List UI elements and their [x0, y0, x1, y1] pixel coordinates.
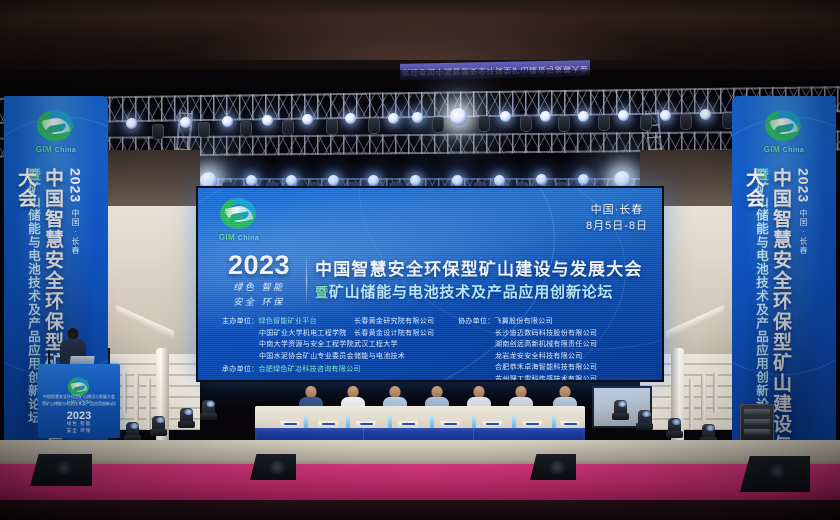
organizer-column-2: 长春黄金研究院有限公司 长春黄金设计院有限公司 武汉工程大学 储能与电池技术 [354, 316, 458, 382]
water-bottle [512, 415, 516, 428]
stage-lamp [540, 111, 551, 122]
logo-ring [37, 110, 73, 141]
banner-swoosh-arc [4, 96, 108, 397]
placard-stripe [444, 423, 457, 425]
co-text: 湖南创远高新机械有限责任公司 [495, 341, 597, 348]
host-col2-item: 储能与电池技术 [354, 351, 458, 363]
banner-sub-prefix: 暨 [754, 168, 768, 182]
mover-lens [672, 419, 681, 425]
logo-text-main: GIM [219, 233, 235, 242]
logo-wordmark: GIM China [27, 145, 85, 154]
co-first-row: 协办单位：飞翼股份有限公司 [458, 316, 652, 328]
balustrade-spindle [122, 372, 127, 414]
host-col1-item: 中国矿业大学机电工程学院 [222, 328, 354, 340]
co-item: 苏州理工雷科传感技术有限公司 [458, 374, 652, 382]
co-text: 龙岩龙安安全科技有限公司 [495, 353, 583, 360]
screen-location-block: 中国·长春 8月5日-8日 [586, 202, 648, 234]
speaker-cone [768, 464, 786, 478]
undertaker-row: 承办单位：合肥绿色矿冶科技咨询有限公司 [222, 364, 361, 374]
organizer-column-3: 协办单位：飞翼股份有限公司 长沙迪迈数码科技股份有限公司 湖南创远高新机械有限责… [458, 316, 652, 382]
mover-lens [706, 425, 715, 431]
host-first: 绿色智能矿业平台 [259, 318, 317, 325]
logo-wordmark: GIM China [210, 233, 268, 242]
podium-slogan-1: 绿色 智能 [38, 422, 120, 428]
water-bottle [304, 415, 308, 428]
banner-swoosh-arc [732, 96, 836, 397]
stage-monitor-speaker [250, 454, 296, 480]
stage-lamp [345, 113, 356, 124]
logo-ring [765, 110, 801, 141]
screen-year-block: 2023 绿色 智能 安全 环保 [216, 252, 302, 309]
podium-slogan-2: 安全 环保 [38, 429, 120, 435]
host-col2-item: 长春黄金研究院有限公司 [354, 316, 458, 328]
water-bottle [430, 415, 434, 428]
banner-year: 2023 [68, 168, 84, 203]
screen-slogan-2: 安全 环保 [216, 297, 302, 309]
floor-moving-head [200, 398, 217, 420]
stage-lamp [302, 114, 313, 125]
host-col1-item: 中国水泥协会矿山专业委员会 [222, 351, 354, 363]
stage-lamp [412, 112, 423, 123]
screen-slogan-1: 绿色 智能 [216, 282, 302, 294]
banner-year: 2023 [796, 168, 812, 203]
screen-title-block: 2023 绿色 智能 安全 环保 中国智慧安全环保型矿山建设与发展大会 暨矿山储… [216, 252, 648, 309]
host-label: 主办单位： [222, 318, 259, 325]
co-item: 长沙迪迈数码科技股份有限公司 [458, 328, 652, 340]
stage-lamp [368, 175, 379, 186]
moving-head-fixture [558, 116, 570, 132]
co-text: 苏州理工雷科传感技术有限公司 [495, 376, 597, 382]
moving-head-fixture [640, 115, 652, 131]
stage-wall-shadow-left [108, 150, 200, 210]
speaker-cone [268, 460, 286, 474]
ceiling-glow [180, 0, 660, 60]
podium-title-line-1: 中国智慧安全环保型矿山建设与发展大会 [42, 394, 116, 400]
stage-lamp [536, 174, 547, 185]
logo-swoop-dark [46, 123, 67, 133]
floor-moving-head [124, 420, 141, 442]
moving-head-fixture [432, 117, 444, 133]
stage-lamp [700, 109, 711, 120]
stage-lamp [578, 111, 589, 122]
logo-mark [763, 110, 805, 144]
moving-head-fixture [282, 120, 294, 136]
water-bottle [346, 415, 350, 428]
co-text: 长沙迪迈数码科技股份有限公司 [495, 330, 597, 337]
undertaker-label: 承办单位： [222, 366, 259, 373]
screen-titles: 中国智慧安全环保型矿山建设与发展大会 暨矿山储能与电池技术及产品应用创新论坛 [315, 259, 648, 302]
floor-moving-head [612, 398, 629, 420]
moving-head-fixture [520, 116, 532, 132]
conference-stage-photo: 欢迎参加中国智慧安全环保型矿山建设与发展大会 [0, 0, 840, 520]
moving-head-fixture [478, 116, 490, 132]
screen-city: 中国·长春 [586, 202, 648, 218]
logo-text-main: GIM [36, 145, 52, 154]
mover-base [666, 431, 683, 438]
stage-monitor-speaker [30, 454, 92, 486]
co-text: 合肥恭禾卓海智能科技有限公司 [495, 364, 597, 371]
screen-title-sub-prefix: 暨 [315, 285, 329, 300]
stage-lamp [578, 174, 589, 185]
speaker-cone [548, 460, 566, 474]
balustrade-spindle [701, 374, 706, 422]
logo-wordmark: GIM China [755, 145, 813, 154]
stage-lamp [494, 175, 505, 186]
host-col1-text: 中国水泥协会矿山专业委员会 [259, 353, 354, 360]
placard-stripe [564, 423, 577, 425]
mover-base [178, 421, 195, 428]
moving-head-fixture [326, 119, 338, 135]
rack-panel [744, 419, 770, 425]
host-col1-text: 中南大学资源与安全工程学院 [259, 341, 354, 348]
host-col1-item: 中南大学资源与安全工程学院 [222, 339, 354, 351]
stage-lamp-bright [450, 108, 467, 125]
logo-swoop-dark [774, 123, 795, 133]
host-first-row: 主办单位：绿色智能矿业平台 [222, 316, 354, 328]
stage-lamp [222, 116, 233, 127]
mover-lens [642, 411, 651, 417]
screen-title-main: 中国智慧安全环保型矿山建设与发展大会 [315, 259, 648, 280]
stage-lamp [126, 118, 137, 129]
floor-moving-head [666, 416, 683, 438]
mover-lens [130, 423, 139, 429]
mover-lens [156, 417, 165, 423]
moving-head-fixture [598, 115, 610, 131]
water-bottle [472, 415, 476, 428]
main-led-screen: GIM China 中国·长春 8月5日-8日 2023 绿色 智能 安全 环保… [196, 186, 664, 382]
moving-head-fixture [368, 118, 380, 134]
logo-swoop-light [42, 115, 71, 136]
stage-lamp [410, 175, 421, 186]
host-col2-text: 武汉工程大学 [354, 341, 398, 348]
placard-stripe [486, 423, 499, 425]
stage-lamp [660, 110, 671, 121]
placard-stripe [526, 423, 539, 425]
logo-text-main: GIM [764, 145, 780, 154]
balustrade-spindle [689, 378, 694, 430]
speaker-podium: GIM China 中国智慧安全环保型矿山建设与发展大会 暨矿山储能与电池技术及… [38, 364, 120, 438]
moving-head-fixture [680, 114, 692, 130]
mover-base [612, 413, 629, 420]
placard-stripe [284, 423, 297, 425]
stage-lamp [246, 175, 257, 186]
banner-sub-prefix: 暨 [26, 168, 40, 182]
water-bottle [388, 415, 392, 428]
host-col2-item: 武汉工程大学 [354, 339, 458, 351]
mover-lens [184, 409, 193, 415]
moving-head-fixture [152, 124, 164, 140]
banner-title-sub: 矿山储能与电池技术及产品应用创新论坛 [754, 182, 768, 425]
placard-stripe [322, 423, 335, 425]
stage-lamp [452, 175, 463, 186]
gim-china-logo-icon: GIM China [755, 110, 813, 162]
moving-head-fixture [240, 121, 252, 137]
screen-title-sub-row: 暨矿山储能与电池技术及产品应用创新论坛 [315, 283, 648, 302]
gim-china-logo-icon: GIM China [27, 110, 85, 162]
stage-lamp [500, 111, 511, 122]
logo-mark [218, 198, 260, 232]
stage-monitor-speaker [530, 454, 576, 480]
floor-moving-head [636, 408, 653, 430]
co-item: 龙岩龙安安全科技有限公司 [458, 351, 652, 363]
stage-lamp [388, 113, 399, 124]
stage-pink-carpet [0, 464, 840, 502]
stage-monitor-speaker [740, 456, 810, 492]
mover-base [200, 413, 217, 420]
podium-year: 2023 [38, 410, 120, 422]
podium-title-line-2: 暨矿山储能与电池技术及产品应用创新论坛 [42, 401, 116, 407]
host-col2-item: 长春黄金设计院有限公司 [354, 328, 458, 340]
placard-stripe [402, 423, 415, 425]
mover-lens [206, 401, 215, 407]
mover-base [150, 429, 167, 436]
stage-lamp [286, 175, 297, 186]
host-col2-text: 长春黄金设计院有限公司 [354, 330, 434, 337]
stage-lamp [180, 117, 191, 128]
logo-swoop-light [770, 115, 799, 136]
co-item: 湖南创远高新机械有限责任公司 [458, 339, 652, 351]
mover-base [636, 423, 653, 430]
co-first: 飞翼股份有限公司 [495, 318, 553, 325]
stage-lamp [618, 110, 629, 121]
floor-moving-head [178, 406, 195, 428]
logo-mark [35, 110, 77, 144]
rack-panel [744, 409, 770, 415]
mover-lens [618, 401, 627, 407]
screen-title-sub: 矿山储能与电池技术及产品应用创新论坛 [329, 284, 613, 301]
banner-location: 中国·长春 [70, 209, 81, 255]
screen-year: 2023 [216, 252, 302, 279]
host-col1-text: 中国矿业大学机电工程学院 [259, 330, 347, 337]
logo-text-sub: China [55, 147, 76, 154]
logo-text-sub: China [783, 147, 804, 154]
co-item: 合肥恭禾卓海智能科技有限公司 [458, 362, 652, 374]
water-bottle [552, 415, 556, 428]
speaker-cone [55, 461, 73, 475]
rack-panel [744, 429, 770, 435]
host-col2-text: 储能与电池技术 [354, 353, 405, 360]
stage-lamp [328, 175, 339, 186]
logo-text-sub: China [238, 235, 259, 242]
moving-head-fixture [198, 122, 210, 138]
co-label: 协办单位： [458, 318, 495, 325]
foreground-floor [0, 500, 840, 520]
gim-china-logo-icon: GIM China [210, 198, 268, 250]
host-col2-text: 长春黄金研究院有限公司 [354, 318, 434, 325]
title-divider [306, 254, 307, 307]
balustrade-spindle [134, 374, 139, 422]
stage-lamp [262, 115, 273, 126]
screen-dates: 8月5日-8日 [586, 218, 648, 234]
placard-stripe [360, 423, 373, 425]
floor-moving-head [150, 414, 167, 436]
undertaker-name: 合肥绿色矿冶科技咨询有限公司 [259, 366, 361, 373]
balustrade-spindle [713, 372, 718, 414]
banner-location: 中国·长春 [798, 209, 809, 255]
